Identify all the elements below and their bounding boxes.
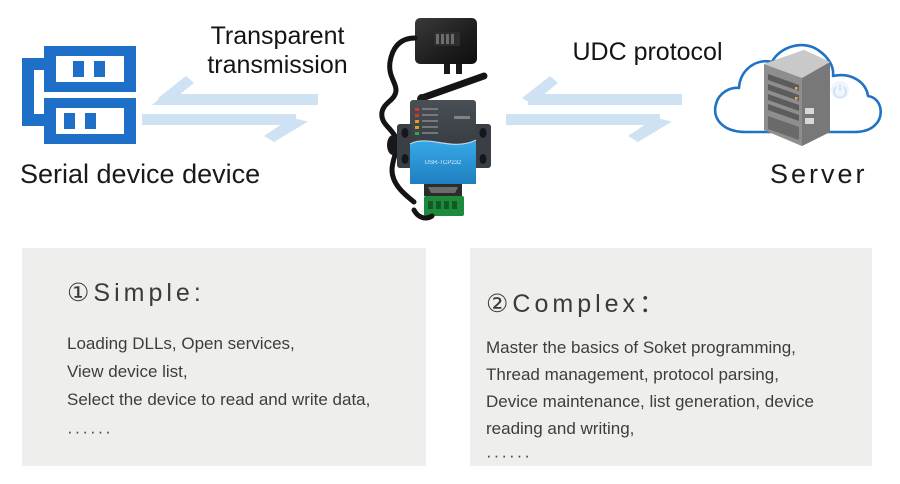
panel-complex-line: Master the basics of Soket programming, [486, 334, 860, 361]
panel-simple: ①Simple: Loading DLLs, Open services, Vi… [22, 248, 426, 466]
panel-complex-line: Device maintenance, list generation, dev… [486, 388, 860, 442]
panel-simple-line: View device list, [67, 358, 414, 386]
panel-simple-line: Loading DLLs, Open services, [67, 330, 414, 358]
serial-server-device-photo: USR-TCP232 [352, 12, 504, 226]
panel-complex-line: Thread management, protocol parsing, [486, 361, 860, 388]
panel-complex: ②Complex： Master the basics of Soket pro… [470, 248, 872, 466]
diagram-page: Serial device device Transparent transmi… [0, 0, 900, 484]
panel-simple-line: Select the device to read and write data… [67, 386, 414, 414]
topology-diagram: Serial device device Transparent transmi… [0, 0, 900, 236]
svg-text:USR-TCP232: USR-TCP232 [425, 160, 462, 166]
panel-simple-body: Loading DLLs, Open services, View device… [67, 330, 414, 446]
server-label: Server [770, 158, 868, 190]
panel-complex-body: Master the basics of Soket programming, … [486, 334, 860, 469]
panel-complex-heading: ②Complex： [486, 284, 668, 320]
bidirectional-arrows-icon [142, 76, 318, 142]
bidirectional-arrows-icon [506, 76, 682, 142]
panel-complex-ellipsis: ······ [486, 442, 860, 469]
cloud-server-icon [706, 24, 886, 148]
serial-device-icon [18, 36, 140, 148]
serial-device-label: Serial device device [20, 158, 260, 190]
panel-simple-ellipsis: ······ [67, 418, 414, 446]
panel-simple-heading: ①Simple: [67, 278, 205, 308]
